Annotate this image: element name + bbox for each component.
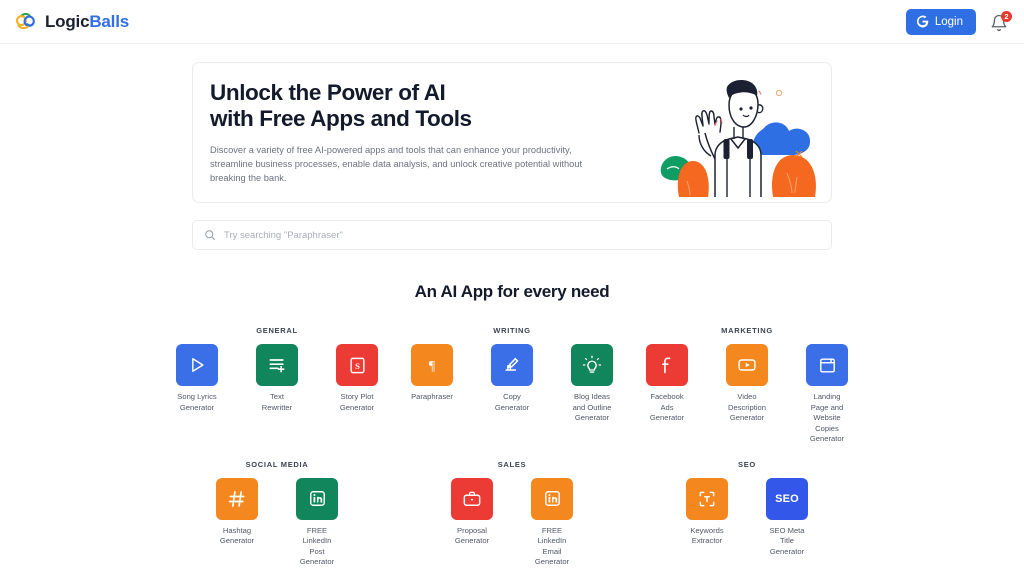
app-tile[interactable] [491,344,533,386]
category-label: SEO [738,460,756,469]
page-body: Unlock the Power of AI with Free Apps an… [0,62,1024,568]
category-row-1: GENERAL Song Lyrics Generator [172,326,852,445]
list-plus-icon [267,355,287,375]
category-group-social-media: SOCIAL MEDIA Hashtag Generator [172,460,382,568]
video-play-icon [737,355,757,375]
app-story-plot-generator[interactable]: S Story Plot Generator [327,344,388,413]
app-label: Story Plot Generator [340,392,374,413]
linkedin-icon [308,489,327,508]
app-label: Landing Page and Website Copies Generato… [810,392,844,445]
app-label: Blog Ideas and Outline Generator [573,392,612,424]
app-tile[interactable] [726,344,768,386]
google-g-icon [916,15,929,28]
linkedin-icon [543,489,562,508]
app-facebook-ads-generator[interactable]: Facebook Ads Generator [637,344,698,424]
app-label: SEO Meta Title Generator [769,526,804,558]
app-video-description-generator[interactable]: Video Description Generator [717,344,778,424]
app-tile[interactable]: S [336,344,378,386]
search-input[interactable] [224,230,820,241]
browser-window-icon [818,356,837,375]
hero-text-block: Unlock the Power of AI with Free Apps an… [210,80,630,185]
app-label: Proposal Generator [455,526,489,547]
app-seo-meta-title-generator[interactable]: SEO SEO Meta Title Generator [757,478,818,558]
app-tile[interactable] [806,344,848,386]
app-copy-generator[interactable]: Copy Generator [482,344,543,413]
app-free-linkedin-email-generator[interactable]: FREE LinkedIn Email Generator [522,478,583,568]
top-header: LogicBalls Login 2 [0,0,1024,44]
category-label: GENERAL [256,326,298,335]
content-container: Unlock the Power of AI with Free Apps an… [192,62,832,250]
app-tile[interactable] [176,344,218,386]
app-tile[interactable] [216,478,258,520]
category-label: WRITING [493,326,530,335]
app-paraphraser[interactable]: ¶ Paraphraser [402,344,463,403]
app-tile[interactable] [686,478,728,520]
category-apps: Keywords Extractor SEO SEO Meta Title Ge… [677,478,818,558]
brand-name: LogicBalls [45,13,129,30]
category-apps: Proposal Generator FREE LinkedIn Email G… [442,478,583,568]
category-row-2: SOCIAL MEDIA Hashtag Generator [172,460,852,568]
category-apps: Song Lyrics Generator Text Rewritter S [167,344,388,413]
notifications-button[interactable]: 2 [990,11,1010,33]
app-label: Text Rewritter [262,392,292,413]
app-label: Paraphraser [411,392,453,403]
brand-logo[interactable]: LogicBalls [14,11,129,33]
app-tile[interactable] [256,344,298,386]
app-label: Song Lyrics Generator [177,392,216,413]
notification-badge: 2 [1001,11,1012,22]
app-label: FREE LinkedIn Email Generator [535,526,569,568]
briefcase-icon [462,489,482,509]
pen-chart-icon [502,355,522,375]
play-outline-icon [187,355,207,375]
app-free-linkedin-post-generator[interactable]: FREE LinkedIn Post Generator [287,478,348,568]
text-crop-icon [697,489,717,509]
hashtag-icon [227,489,247,509]
section-heading: An AI App for every need [0,282,1024,302]
facebook-icon [657,355,677,375]
app-keywords-extractor[interactable]: Keywords Extractor [677,478,738,547]
app-label: Copy Generator [495,392,529,413]
category-label: MARKETING [721,326,773,335]
s-box-icon: S [348,356,367,375]
app-tile[interactable] [646,344,688,386]
category-group-marketing: MARKETING Facebook Ads Generator [642,326,852,445]
login-button-label: Login [935,16,963,28]
app-tile[interactable]: ¶ [411,344,453,386]
app-label: FREE LinkedIn Post Generator [300,526,334,568]
svg-text:S: S [355,361,360,371]
app-landing-page-and-website-copies-generator[interactable]: Landing Page and Website Copies Generato… [797,344,858,445]
category-label: SOCIAL MEDIA [246,460,309,469]
app-text-rewritter[interactable]: Text Rewritter [247,344,308,413]
app-label: Video Description Generator [728,392,766,424]
hero-card: Unlock the Power of AI with Free Apps an… [192,62,832,203]
brand-name-part2: Balls [89,12,129,31]
category-group-sales: SALES Proposal Generator [407,460,617,568]
search-icon [204,229,216,241]
pilcrow-icon: ¶ [422,355,442,375]
page-title: Unlock the Power of AI with Free Apps an… [210,80,630,132]
app-tile[interactable] [451,478,493,520]
app-label: Keywords Extractor [690,526,723,547]
category-apps: Hashtag Generator FREE LinkedIn Post Gen… [207,478,348,568]
brand-name-part1: Logic [45,12,89,31]
category-group-general: GENERAL Song Lyrics Generator [172,326,382,445]
search-bar[interactable] [192,220,832,250]
app-tile[interactable] [296,478,338,520]
category-group-seo: SEO Keywords Extractor SEO SEO Meta Titl… [642,460,852,568]
login-button[interactable]: Login [906,9,976,35]
logicballs-logo-icon [14,11,38,33]
app-hashtag-generator[interactable]: Hashtag Generator [207,478,268,547]
app-tile[interactable] [571,344,613,386]
hero-description: Discover a variety of free AI-powered ap… [210,143,615,185]
app-song-lyrics-generator[interactable]: Song Lyrics Generator [167,344,228,413]
category-apps: Facebook Ads Generator Video Description… [637,344,858,445]
person-waving-illustration [655,69,825,197]
category-group-writing: WRITING ¶ Paraphraser [407,326,617,445]
app-proposal-generator[interactable]: Proposal Generator [442,478,503,547]
app-tile[interactable]: SEO [766,478,808,520]
category-apps: ¶ Paraphraser Copy Generator [402,344,623,424]
app-tile[interactable] [531,478,573,520]
app-blog-ideas-and-outline-generator[interactable]: Blog Ideas and Outline Generator [562,344,623,424]
svg-text:¶: ¶ [429,358,436,374]
app-label: Hashtag Generator [220,526,254,547]
app-label: Facebook Ads Generator [650,392,684,424]
category-label: SALES [498,460,527,469]
lightbulb-icon [582,355,602,375]
seo-text-icon: SEO [775,493,799,505]
header-actions: Login 2 [906,9,1010,35]
